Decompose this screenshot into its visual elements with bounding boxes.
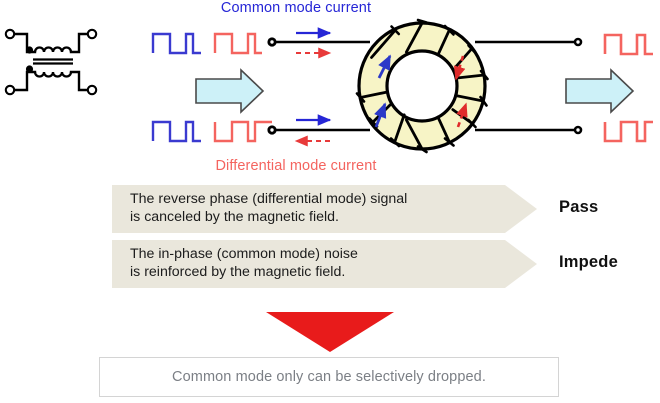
wire-bottom: [267, 125, 370, 134]
schematic-polarity-dot-bottom: [26, 65, 33, 72]
schematic-winding-bottom: [35, 72, 71, 77]
toroidal-ferrite-core: [357, 20, 488, 152]
waveform-input-top-differential: [215, 34, 262, 53]
waveform-input-top-common: [153, 34, 201, 53]
verdict-impede: Impede: [559, 253, 618, 272]
label-differential-mode-current: Differential mode current: [186, 158, 406, 174]
label-common-mode-current: Common mode current: [186, 0, 406, 16]
waveform-input-bottom-differential: [215, 122, 272, 141]
diagram-canvas: Common mode current Differential mode cu…: [0, 0, 660, 403]
flow-arrow-input: [196, 70, 263, 112]
waveform-output-bottom-differential: [605, 122, 653, 141]
callout-common: The in-phase (common mode) noise is rein…: [112, 240, 537, 288]
wire-bottom-output: [475, 126, 582, 135]
core-inner-edge: [387, 51, 457, 121]
schematic-lead-bottom-right: [71, 72, 88, 90]
schematic-terminal-top-right: [88, 30, 96, 38]
conclusion-box: Common mode only can be selectively drop…: [99, 357, 559, 397]
schematic-lead-bottom-left: [15, 72, 36, 90]
common-mode-choke-symbol: [6, 30, 96, 94]
callout-common-line1: The in-phase (common mode) noise: [130, 245, 477, 263]
schematic-lead-top-right: [71, 34, 88, 52]
wire-top-output: [475, 38, 582, 47]
schematic-terminal-top-left: [6, 30, 14, 38]
callout-differential-line2: is canceled by the magnetic field.: [130, 208, 477, 226]
schematic-winding-top: [35, 48, 71, 53]
wire-top: [267, 37, 370, 46]
schematic-polarity-dot-top: [26, 46, 33, 53]
red-down-arrow: [266, 312, 394, 352]
callout-differential-line1: The reverse phase (differential mode) si…: [130, 190, 477, 208]
waveform-input-bottom-common: [153, 122, 201, 141]
flow-arrow-output: [566, 70, 633, 112]
waveform-output-top-differential: [605, 35, 653, 54]
schematic-terminal-bottom-right: [88, 86, 96, 94]
callout-differential: The reverse phase (differential mode) si…: [112, 185, 537, 233]
callout-common-line2: is reinforced by the magnetic field.: [130, 263, 477, 281]
schematic-terminal-bottom-left: [6, 86, 14, 94]
verdict-pass: Pass: [559, 198, 598, 217]
conclusion-text: Common mode only can be selectively drop…: [172, 369, 486, 385]
